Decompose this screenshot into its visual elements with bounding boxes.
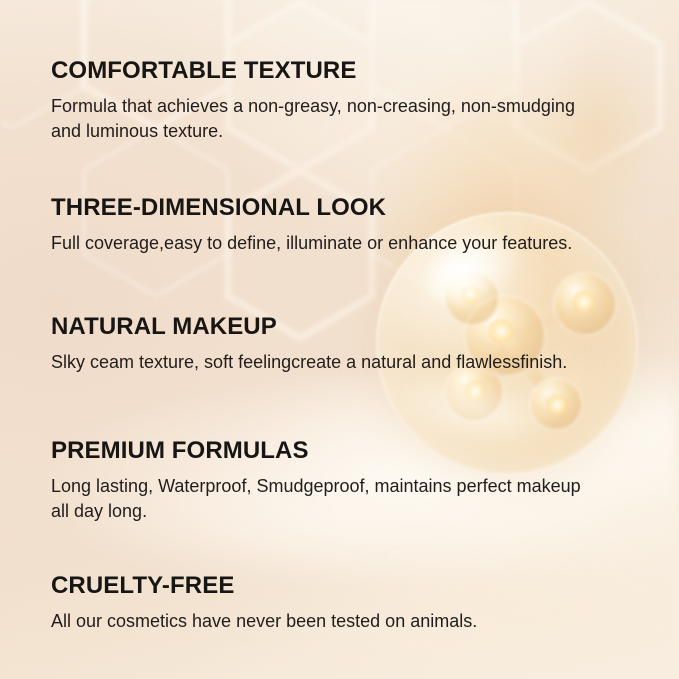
feature-title: COMFORTABLE TEXTURE bbox=[51, 57, 575, 85]
feature-title: NATURAL MAKEUP bbox=[51, 313, 567, 341]
feature-description: All our cosmetics have never been tested… bbox=[51, 609, 477, 634]
feature-title: PREMIUM FORMULAS bbox=[51, 437, 581, 465]
feature-block-comfortable-texture: COMFORTABLE TEXTURE Formula that achieve… bbox=[51, 57, 575, 144]
feature-description: Formula that achieves a non-greasy, non-… bbox=[51, 94, 575, 144]
feature-description: Long lasting, Waterproof, Smudgeproof, m… bbox=[51, 474, 581, 524]
product-feature-infographic: COMFORTABLE TEXTURE Formula that achieve… bbox=[0, 0, 679, 679]
feature-title: THREE-DIMENSIONAL LOOK bbox=[51, 194, 572, 222]
feature-block-premium-formulas: PREMIUM FORMULAS Long lasting, Waterproo… bbox=[51, 437, 581, 524]
feature-block-cruelty-free: CRUELTY-FREE All our cosmetics have neve… bbox=[51, 572, 477, 634]
feature-block-natural-makeup: NATURAL MAKEUP Slky ceam texture, soft f… bbox=[51, 313, 567, 375]
feature-list: COMFORTABLE TEXTURE Formula that achieve… bbox=[51, 0, 651, 679]
feature-block-three-dimensional-look: THREE-DIMENSIONAL LOOK Full coverage,eas… bbox=[51, 194, 572, 256]
feature-description: Full coverage,easy to define, illuminate… bbox=[51, 231, 572, 256]
feature-description: Slky ceam texture, soft feelingcreate a … bbox=[51, 350, 567, 375]
feature-title: CRUELTY-FREE bbox=[51, 572, 477, 600]
